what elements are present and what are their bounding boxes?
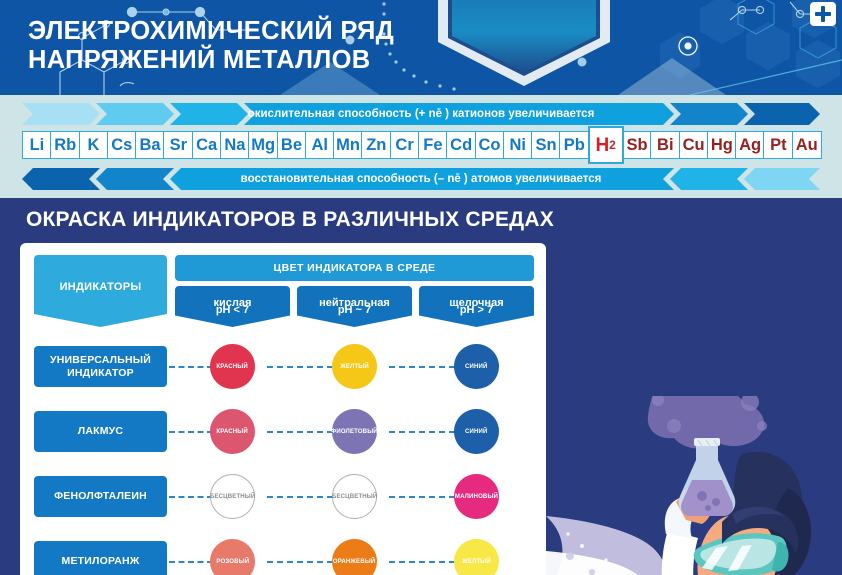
element-cell[interactable]: Ca (192, 131, 222, 159)
connector-line (389, 366, 455, 368)
indicators-table: ИНДИКАТОРЫ ЦВЕТ ИНДИКАТОРА В СРЕДЕ кисла… (20, 243, 546, 575)
element-cell[interactable]: Au (792, 131, 822, 159)
table-header: ИНДИКАТОРЫ ЦВЕТ ИНДИКАТОРА В СРЕДЕ кисла… (34, 255, 534, 327)
color-swatch[interactable]: ЖЕЛТЫЙ (454, 539, 499, 575)
element-cell[interactable]: Hg (707, 131, 737, 159)
connector-line (169, 496, 213, 498)
element-cell[interactable]: Li (22, 131, 52, 159)
connector-line (267, 561, 333, 563)
color-swatch[interactable]: СИНИЙ (454, 409, 499, 454)
element-cell-hydrogen[interactable]: H2 (588, 126, 624, 164)
element-cell[interactable]: Cu (679, 131, 709, 159)
color-swatch[interactable]: МАЛИНОВЫЙ (454, 474, 499, 519)
element-cell[interactable]: Pb (559, 131, 589, 159)
connector-line (267, 431, 333, 433)
poster-header: ЭЛЕКТРОХИМИЧЕСКИЙ РЯД НАПРЯЖЕНИЙ МЕТАЛЛО… (0, 0, 842, 95)
electrochemical-series-band: окислительная способность (+ nē ) катион… (0, 95, 842, 198)
element-cell[interactable]: Sn (531, 131, 561, 159)
element-cell[interactable]: Co (475, 131, 505, 159)
table-header-indicators-label: ИНДИКАТОРЫ (60, 281, 142, 293)
color-swatch[interactable]: КРАСНЫЙ (210, 409, 255, 454)
metal-activity-series: Li Rb K Cs Ba Sr Ca Na Mg Be Al Mn Zn Cr… (22, 128, 820, 162)
connector-line (389, 561, 455, 563)
color-swatch[interactable]: РОЗОВЫЙ (210, 539, 255, 575)
color-swatch[interactable]: ЖЕЛТЫЙ (332, 344, 377, 389)
page-title-line2: НАПРЯЖЕНИЙ МЕТАЛЛОВ (28, 46, 458, 75)
oxidizing-ability-arrow-row: окислительная способность (+ nē ) катион… (22, 103, 820, 125)
color-swatch[interactable]: СИНИЙ (454, 344, 499, 389)
element-cell[interactable]: Na (220, 131, 250, 159)
indicator-name[interactable]: УНИВЕРСАЛЬНЫЙИНДИКАТОР (34, 346, 167, 387)
color-swatch[interactable]: ФИОЛЕТОВЫЙ (332, 409, 377, 454)
env-ph: pH > 7 (460, 304, 493, 317)
element-cell[interactable]: Mn (333, 131, 363, 159)
female-scientist-with-flask-icon (546, 396, 842, 575)
env-ph: pH ~ 7 (338, 304, 371, 317)
page-title-line1: ЭЛЕКТРОХИМИЧЕСКИЙ РЯД (28, 17, 458, 46)
connector-line (169, 366, 213, 368)
element-cell[interactable]: Sb (622, 131, 652, 159)
element-cell[interactable]: Be (277, 131, 307, 159)
page-title: ЭЛЕКТРОХИМИЧЕСКИЙ РЯД НАПРЯЖЕНИЙ МЕТАЛЛО… (28, 17, 458, 75)
element-cell[interactable]: Fe (418, 131, 448, 159)
table-row: ЛАКМУС КРАСНЫЙ ФИОЛЕТОВЫЙ СИНИЙ (34, 404, 534, 459)
indicator-name[interactable]: ФЕНОЛФТАЛЕИН (34, 476, 167, 517)
table-header-color-in-medium-label: ЦВЕТ ИНДИКАТОРА В СРЕДЕ (274, 262, 436, 274)
element-cell[interactable]: Cs (107, 131, 137, 159)
element-cell[interactable]: Pt (763, 131, 793, 159)
table-header-env-neutral: нейтральная pH ~ 7 (297, 286, 412, 327)
indicators-section-title: ОКРАСКА ИНДИКАТОРОВ В РАЗЛИЧНЫХ СРЕДАХ (26, 208, 554, 232)
table-row: ФЕНОЛФТАЛЕИН БЕСЦВЕТНЫЙ БЕСЦВЕТНЫЙ МАЛИН… (34, 469, 534, 524)
connector-line (267, 496, 333, 498)
element-cell[interactable]: Ba (135, 131, 165, 159)
indicators-section: ОКРАСКА ИНДИКАТОРОВ В РАЗЛИЧНЫХ СРЕДАХ (0, 198, 842, 575)
element-cell[interactable]: Rb (50, 131, 80, 159)
color-swatch[interactable]: КРАСНЫЙ (210, 344, 255, 389)
color-swatch[interactable]: ОРАНЖЕВЫЙ (332, 539, 377, 575)
table-header-indicators: ИНДИКАТОРЫ (34, 255, 167, 327)
indicator-name[interactable]: МЕТИЛОРАНЖ (34, 541, 167, 575)
connector-line (169, 561, 213, 563)
connector-line (389, 496, 455, 498)
oxidizing-ability-label: окислительная способность (+ nē ) катион… (22, 103, 820, 125)
connector-line (389, 431, 455, 433)
color-swatch[interactable]: БЕСЦВЕТНЫЙ (210, 474, 255, 519)
chemistry-poster: ЭЛЕКТРОХИМИЧЕСКИЙ РЯД НАПРЯЖЕНИЙ МЕТАЛЛО… (0, 0, 842, 575)
element-cell[interactable]: Ni (503, 131, 533, 159)
scientist-illustration (546, 396, 842, 575)
element-cell[interactable]: Cd (446, 131, 476, 159)
table-header-color-in-medium: ЦВЕТ ИНДИКАТОРА В СРЕДЕ (175, 255, 534, 281)
element-cell[interactable]: Mg (248, 131, 278, 159)
table-row: УНИВЕРСАЛЬНЫЙИНДИКАТОР КРАСНЫЙ ЖЕЛТЫЙ СИ… (34, 339, 534, 394)
env-ph: pH < 7 (216, 304, 249, 317)
table-header-env-alkaline: щелочная pH > 7 (419, 286, 534, 327)
reducing-ability-arrow-row: восстановительная способность (– nē ) ат… (22, 168, 820, 190)
element-cell[interactable]: K (79, 131, 109, 159)
color-swatch[interactable]: БЕСЦВЕТНЫЙ (332, 474, 377, 519)
plus-icon[interactable] (810, 2, 836, 26)
table-header-env-acidic: кислая pH < 7 (175, 286, 290, 327)
element-cell[interactable]: Bi (650, 131, 680, 159)
element-cell[interactable]: Cr (390, 131, 420, 159)
indicator-name[interactable]: ЛАКМУС (34, 411, 167, 452)
reducing-ability-label: восстановительная способность (– nē ) ат… (22, 168, 820, 190)
element-cell[interactable]: Sr (163, 131, 193, 159)
table-row: МЕТИЛОРАНЖ РОЗОВЫЙ ОРАНЖЕВЫЙ ЖЕЛТЫЙ (34, 534, 534, 575)
element-cell[interactable]: Al (305, 131, 335, 159)
connector-line (267, 366, 333, 368)
element-cell[interactable]: Ag (735, 131, 765, 159)
connector-line (169, 431, 213, 433)
element-cell[interactable]: Zn (361, 131, 391, 159)
